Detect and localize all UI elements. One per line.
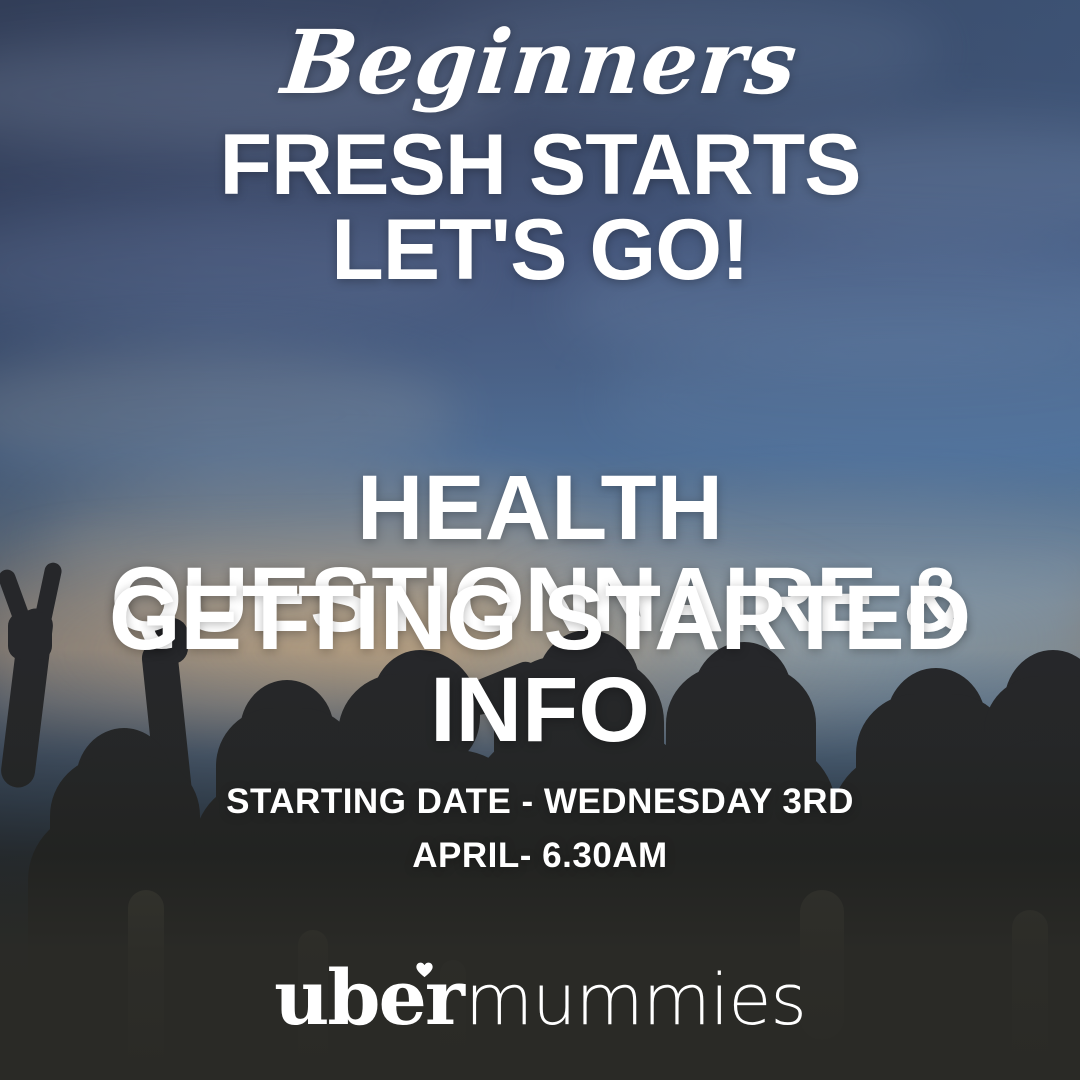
details-line-1: STARTING DATE - WEDNESDAY 3RD	[0, 784, 1080, 819]
brand-logo: uber mummies	[0, 960, 1080, 1036]
main-message-line-2: GETTING STARTED INFO	[0, 572, 1080, 756]
logo-mummies-text: mummies	[465, 965, 806, 1035]
poster-canvas: Beginners FRESH STARTS LET'S GO! HEALTH …	[0, 0, 1080, 1080]
details-line-2: APRIL- 6.30AM	[0, 838, 1080, 873]
headline-line-1: FRESH STARTS	[0, 122, 1080, 208]
heart-icon	[416, 962, 433, 978]
logo-uber-wordmark: uber	[274, 960, 463, 1036]
headline-line-2: LET'S GO!	[0, 207, 1080, 293]
logo-uber-text: uber	[274, 953, 463, 1042]
headline-script-word: Beginners	[0, 18, 1080, 106]
